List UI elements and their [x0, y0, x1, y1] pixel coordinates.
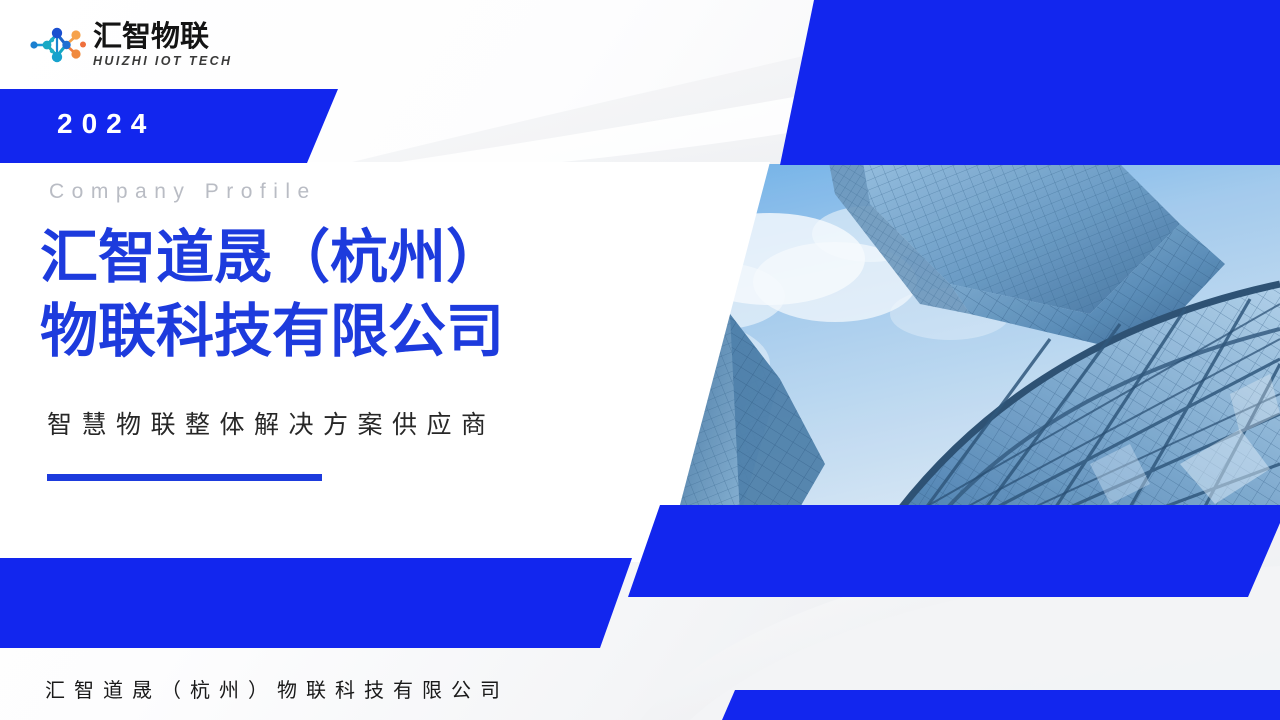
presentation-slide: 汇智物联 HUIZHI IOT TECH 2024 Company Profil…: [0, 0, 1280, 720]
molecule-network-icon: [28, 22, 86, 68]
year-label: 2024: [57, 108, 155, 140]
company-logo[interactable]: 汇智物联 HUIZHI IOT TECH: [28, 22, 232, 68]
title-line-2: 物联科技有限公司: [40, 294, 720, 368]
eyebrow-label: Company Profile: [49, 180, 317, 204]
blue-banner-photo: [628, 505, 1280, 597]
blue-banner-bottom-left: [0, 558, 632, 648]
page-title: 汇智道晟（杭州） 物联科技有限公司: [40, 220, 720, 368]
footer-company-name: 汇智道晟（杭州）物联科技有限公司: [45, 674, 509, 703]
accent-rule: [47, 474, 322, 481]
logo-chinese-name: 汇智物联: [93, 22, 232, 51]
blue-banner-top-right: [780, 0, 1280, 165]
title-line-1: 汇智道晟（杭州）: [40, 220, 720, 294]
year-banner: [0, 89, 338, 163]
subtitle: 智慧物联整体解决方案供应商: [47, 405, 496, 441]
logo-english-name: HUIZHI IOT TECH: [93, 55, 232, 68]
blue-banner-bottom-right: [722, 690, 1280, 720]
